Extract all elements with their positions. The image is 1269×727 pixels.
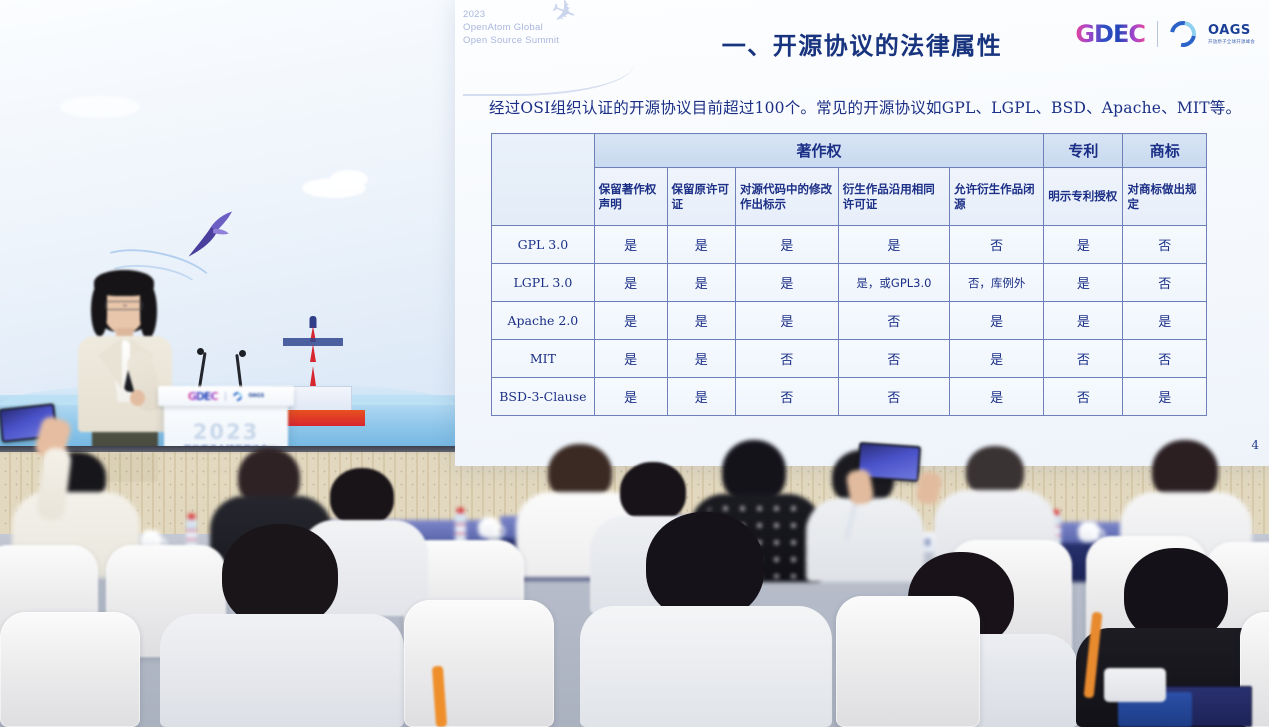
cell-license-name: GPL 3.0 [492,226,595,264]
cloud-decor [330,170,368,188]
license-comparison-table: 著作权 专利 商标 保留著作权声明 保留原许可证 对源代码中的修改作出标示 衍生… [491,133,1207,416]
table-column-header-row: 保留著作权声明 保留原许可证 对源代码中的修改作出标示 衍生作品沿用相同许可证 … [492,168,1207,226]
logo-divider [225,392,226,401]
cell-value: 是 [594,378,667,416]
cell-value: 是 [594,264,667,302]
corner-year: 2023 [463,8,613,21]
table-row: LGPL 3.0 是 是 是 是，或GPL3.0 否，库例外 是 否 [492,264,1207,302]
attendee-head [620,462,686,522]
cell-value: 否 [1123,226,1207,264]
oags-logo-cn: 开放原子全球开源峰会 [1208,39,1255,44]
chair [836,596,980,727]
cell-value: 否 [1123,264,1207,302]
cell-value: 否 [838,302,949,340]
col-header-same-license: 衍生作品沿用相同许可证 [838,168,949,226]
chair [404,600,554,727]
stage-backdrop [0,0,456,452]
cell-value: 是 [1123,302,1207,340]
cell-value: 是 [594,226,667,264]
cell-value: 是，或GPL3.0 [838,264,949,302]
group-header-trademark: 商标 [1123,134,1207,168]
oags-ring-icon [231,390,244,403]
group-header-copyright: 著作权 [594,134,1044,168]
oags-logo: OAGS [1208,24,1255,39]
glasses-icon [105,301,143,310]
gdec-logo: GDEC [1075,20,1145,48]
col-header-patent-grant: 明示专利授权 [1044,168,1123,226]
cell-value: 是 [667,340,736,378]
col-header-keep-original-license: 保留原许可证 [667,168,736,226]
cell-value: 是 [667,378,736,416]
oags-logo: OAGS [249,393,265,399]
bag [1104,668,1166,702]
podium-year: 2023 [164,420,288,444]
cell-license-name: Apache 2.0 [492,302,595,340]
cell-license-name: LGPL 3.0 [492,264,595,302]
attendee-body-foreground [160,614,404,727]
cell-value: 是 [736,264,839,302]
table-body: GPL 3.0 是 是 是 是 否 是 否 LGPL 3.0 是 是 是 是，或… [492,226,1207,416]
cell-value: 是 [667,264,736,302]
cell-value: 是 [1044,264,1123,302]
gdec-logo: GDEC [188,390,218,403]
conference-photo-scene: GDEC OAGS 2023 开放原子全球开源峰会 OPENATOM GLOBA… [0,0,1269,727]
podium-mic-head [239,350,246,357]
table-row: Apache 2.0 是 是 是 否 是 是 是 [492,302,1207,340]
cell-value: 否 [736,340,839,378]
slide-page-number: 4 [1251,438,1259,452]
cell-value: 否 [950,226,1044,264]
cell-value: 是 [1044,302,1123,340]
attendee-head [330,468,394,526]
chair [0,612,140,727]
attendee-head-foreground [646,512,764,620]
cloud-decor [60,96,140,118]
table-corner-cell [492,134,595,226]
cell-value: 是 [736,302,839,340]
table-group-header-row: 著作权 专利 商标 [492,134,1207,168]
attendee-body-foreground [580,606,832,727]
table-row: MIT 是 是 否 否 是 否 否 [492,340,1207,378]
cell-value: 否 [736,378,839,416]
presentation-slide: 2023 OpenAtom Global Open Source Summit … [455,0,1269,466]
podium-mic-head [197,348,204,355]
cell-value: 是 [736,226,839,264]
cell-value: 否 [1123,340,1207,378]
slide-subtitle: 经过OSI组织认证的开源协议目前超过100个。常见的开源协议如GPL、LGPL、… [489,96,1249,118]
podium-top-panel: GDEC OAGS [158,386,294,406]
cell-value: 是 [950,302,1044,340]
cell-value: 否，库例外 [950,264,1044,302]
table-row: GPL 3.0 是 是 是 是 否 是 否 [492,226,1207,264]
attendee-body [806,498,924,582]
cell-license-name: BSD-3-Clause [492,378,595,416]
col-header-keep-copyright-notice: 保留著作权声明 [594,168,667,226]
cell-value: 是 [950,340,1044,378]
table-row: BSD-3-Clause 是 是 否 否 是 否 是 [492,378,1207,416]
cell-value: 否 [838,378,949,416]
cell-value: 是 [594,340,667,378]
attendee-head-foreground [222,524,338,628]
airplane-icon: ✈ [549,2,577,24]
cell-value: 是 [667,302,736,340]
flying-bird-icon [174,206,241,260]
group-header-patent: 专利 [1044,134,1123,168]
cell-value: 否 [1044,340,1123,378]
cell-value: 是 [950,378,1044,416]
slide-logo-group: GDEC OAGS 开放原子全球开源峰会 [1075,20,1255,48]
col-header-allow-closed-source: 允许衍生作品闭源 [950,168,1044,226]
teacup [478,521,500,538]
col-header-trademark-rules: 对商标做出规定 [1123,168,1207,226]
cell-value: 是 [594,302,667,340]
oags-ring-icon [1165,16,1201,52]
col-header-state-changes: 对源代码中的修改作出标示 [736,168,839,226]
cell-value: 是 [667,226,736,264]
cell-value: 是 [1123,378,1207,416]
table-head: 著作权 专利 商标 保留著作权声明 保留原许可证 对源代码中的修改作出标示 衍生… [492,134,1207,226]
cell-value: 否 [1044,378,1123,416]
cell-value: 是 [1044,226,1123,264]
cell-value: 是 [838,226,949,264]
cell-value: 否 [838,340,949,378]
logo-divider [1157,21,1158,47]
cell-license-name: MIT [492,340,595,378]
